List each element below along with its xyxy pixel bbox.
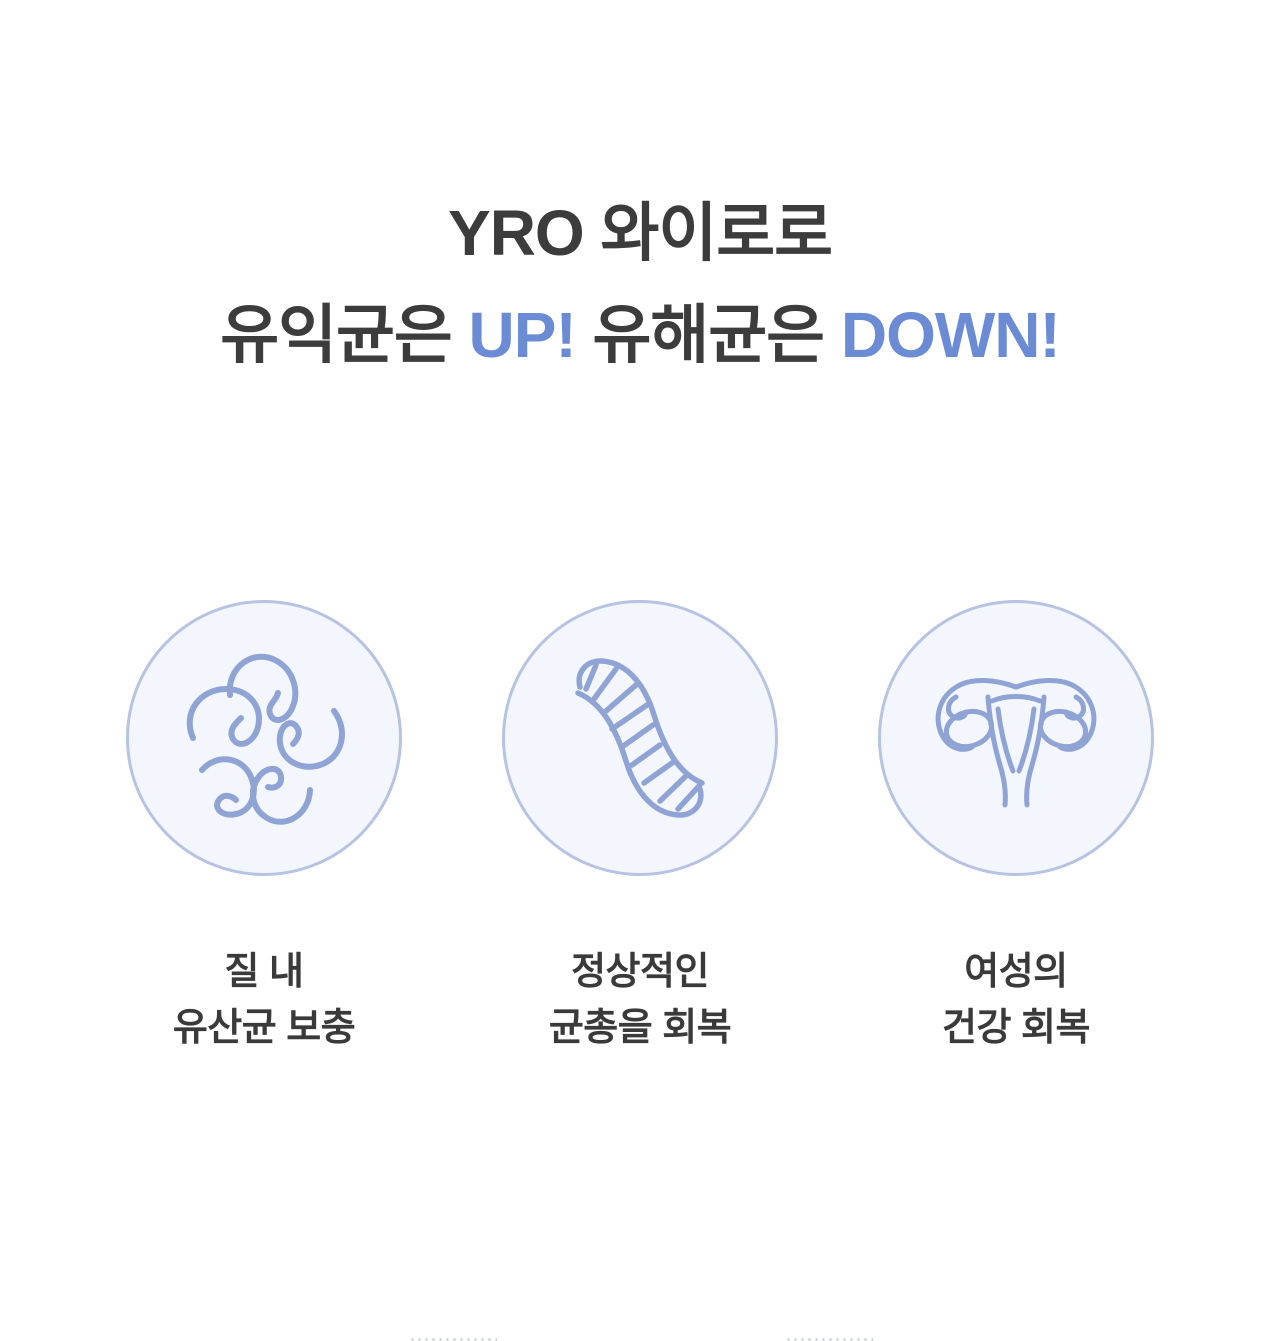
step-2-caption-line-2: 균총을 회복	[502, 1000, 778, 1056]
headline-text-beneficial: 유익균은	[220, 299, 468, 371]
steps-row	[0, 600, 1280, 890]
step-2-circle	[502, 600, 778, 876]
step-3	[878, 600, 1154, 876]
headline-block: YRO 와이로로 유익균은 UP! 유해균은 DOWN!	[0, 196, 1280, 373]
step-2	[502, 600, 778, 876]
step-3-circle	[878, 600, 1154, 876]
step-1-caption-line-1: 질 내	[126, 944, 402, 1000]
step-3-caption: 여성의 건강 회복	[878, 944, 1154, 1056]
step-1-caption: 질 내 유산균 보충	[126, 944, 402, 1056]
headline-line-2: 유익균은 UP! 유해균은 DOWN!	[0, 298, 1280, 374]
uterus-icon	[916, 653, 1116, 823]
headline-text-harmful: 유해균은	[576, 299, 841, 371]
step-1-circle	[126, 600, 402, 876]
lactobacillus-icon	[169, 643, 359, 833]
headline-line-1: YRO 와이로로	[0, 196, 1280, 272]
step-3-caption-line-1: 여성의	[878, 944, 1154, 1000]
captions-row: 질 내 유산균 보충 정상적인 균총을 회복 여성의 건강 회복	[0, 944, 1280, 1064]
step-2-caption-line-1: 정상적인	[502, 944, 778, 1000]
step-1-caption-line-2: 유산균 보충	[126, 1000, 402, 1056]
step-1	[126, 600, 402, 876]
headline-accent-up: UP!	[469, 299, 576, 371]
step-2-caption: 정상적인 균총을 회복	[502, 944, 778, 1056]
dna-helix-icon	[550, 643, 730, 833]
headline-accent-down: DOWN!	[841, 299, 1060, 371]
step-3-caption-line-2: 건강 회복	[878, 1000, 1154, 1056]
